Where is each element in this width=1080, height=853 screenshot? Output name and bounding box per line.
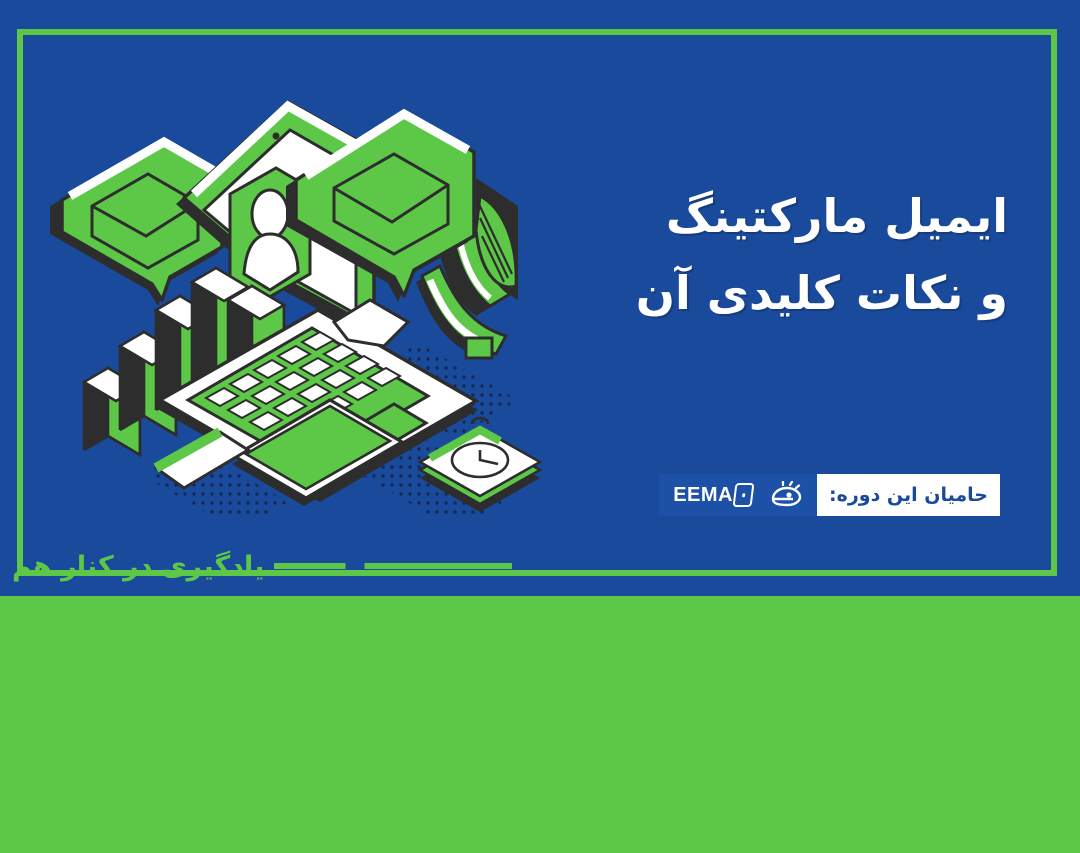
deema-wordmark: EEMA bbox=[673, 484, 733, 507]
sponsors-badge: حامیان این دوره: EEMA bbox=[657, 472, 1002, 518]
deema-d-icon bbox=[733, 483, 755, 507]
tagline: یادگیری در کنار هم bbox=[12, 543, 512, 589]
sponsor-logos: EEMA bbox=[659, 474, 817, 516]
title-line-2: و نکات کلیدی آن bbox=[588, 255, 1008, 332]
footer-band: ExpertSho جمعه ۲۴ بهمن ساعت ۱۸ الی ۲۰ حس… bbox=[0, 596, 1080, 853]
tagline-rule bbox=[274, 563, 512, 569]
tagline-text: یادگیری در کنار هم bbox=[12, 551, 264, 582]
sponsors-label: حامیان این دوره: bbox=[817, 474, 1000, 516]
eye-icon bbox=[769, 481, 803, 509]
webinar-poster: ایمیل مارکتینگ و نکات کلیدی آن حامیان ای… bbox=[0, 0, 1080, 853]
hero-panel: ایمیل مارکتینگ و نکات کلیدی آن حامیان ای… bbox=[0, 0, 1080, 596]
isometric-email-marketing-illustration bbox=[48, 78, 608, 518]
deema-logo: EEMA bbox=[673, 483, 753, 507]
title-line-1: ایمیل مارکتینگ bbox=[588, 178, 1008, 255]
poster-title: ایمیل مارکتینگ و نکات کلیدی آن bbox=[588, 178, 1008, 333]
